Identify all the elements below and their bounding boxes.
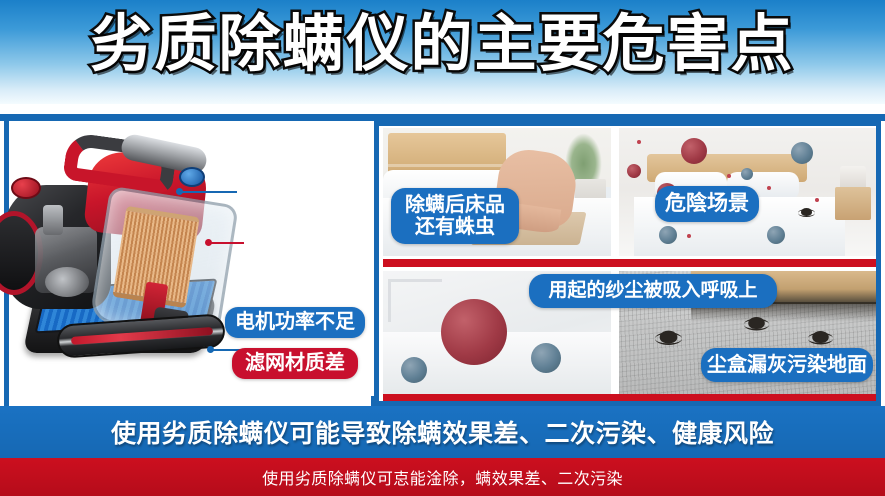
callout-line-filter xyxy=(210,242,244,244)
germ-icon xyxy=(531,343,561,373)
mite-icon xyxy=(812,331,829,343)
photo-strip-red-bottom xyxy=(383,394,876,401)
label-line-2: 还有蛛虫 xyxy=(415,216,495,238)
panel-divider xyxy=(374,121,379,406)
label-danger-scene[interactable]: 危陰场景 xyxy=(655,186,759,222)
dust-speck-icon xyxy=(637,140,641,144)
label-mites-after-cleaning[interactable]: 除螨后床品 还有蛛虫 xyxy=(391,188,519,244)
page-title: 劣质除螨仪的主要危害点 xyxy=(0,14,885,76)
vacuum-cleaner-illustration xyxy=(1,133,241,383)
dust-speck-icon xyxy=(727,174,731,178)
frame-right-rail xyxy=(876,121,881,406)
footer-primary-banner: 使用劣质除螨仪可能导致除螨效果差、二次污染、健康风险 xyxy=(0,406,885,458)
mite-icon xyxy=(748,317,765,329)
footer-secondary-text: 使用劣质除螨仪可怘能淦除，螨效果差、二次污染 xyxy=(262,465,623,489)
footer-secondary-banner: 使用劣质除螨仪可怘能淦除，螨效果差、二次污染 xyxy=(0,458,885,496)
germ-icon xyxy=(741,168,753,180)
lamp-shape xyxy=(840,166,866,188)
header-banner: 劣质除螨仪的主要危害点 xyxy=(0,0,885,104)
label-filter-quality[interactable]: 滤网材质差 xyxy=(232,348,358,379)
germ-icon xyxy=(627,164,641,178)
header-divider-rule xyxy=(0,114,885,121)
label-motor-power[interactable]: 电机功率不足 xyxy=(225,307,365,338)
dust-speck-icon xyxy=(687,234,691,238)
rail-shape xyxy=(388,279,443,323)
dust-speck-icon xyxy=(767,186,771,190)
label-line-1: 除螨后床品 xyxy=(405,194,505,216)
vacuum-motor-assembly xyxy=(35,227,97,293)
label-dust-inhaled[interactable]: 用起的纱尘被吸入呼吸上 xyxy=(529,274,777,308)
vacuum-power-button-icon xyxy=(179,167,205,187)
nightstand-shape xyxy=(835,187,871,220)
germ-icon xyxy=(401,357,427,383)
infographic-poster: 劣质除螨仪的主要危害点 xyxy=(0,0,885,496)
vacuum-release-button-icon xyxy=(11,177,41,199)
callout-line-motor xyxy=(181,191,237,193)
germ-icon xyxy=(681,138,707,164)
dust-speck-icon xyxy=(815,198,819,202)
label-dustbox-leak-floor[interactable]: 尘盒漏灰污染地面 xyxy=(701,348,873,382)
germ-icon xyxy=(791,142,813,164)
mite-icon xyxy=(801,208,812,216)
photo-strip-red-top xyxy=(383,259,876,267)
germ-icon xyxy=(767,226,785,244)
germ-icon-large xyxy=(441,299,507,365)
photo-grid: 除螨后床品 还有蛛虫 危陰场景 用起的纱尘被吸入呼吸上 尘盒漏灰污染地面 xyxy=(383,126,876,401)
footer-primary-text: 使用劣质除螨仪可能导致除螨效果差、二次污染、健康风险 xyxy=(111,414,774,450)
main-content-stage: 电机功率不足 滤网材质差 尘盒密封不严 xyxy=(0,121,885,406)
germ-icon xyxy=(659,226,677,244)
mite-icon xyxy=(660,331,678,344)
